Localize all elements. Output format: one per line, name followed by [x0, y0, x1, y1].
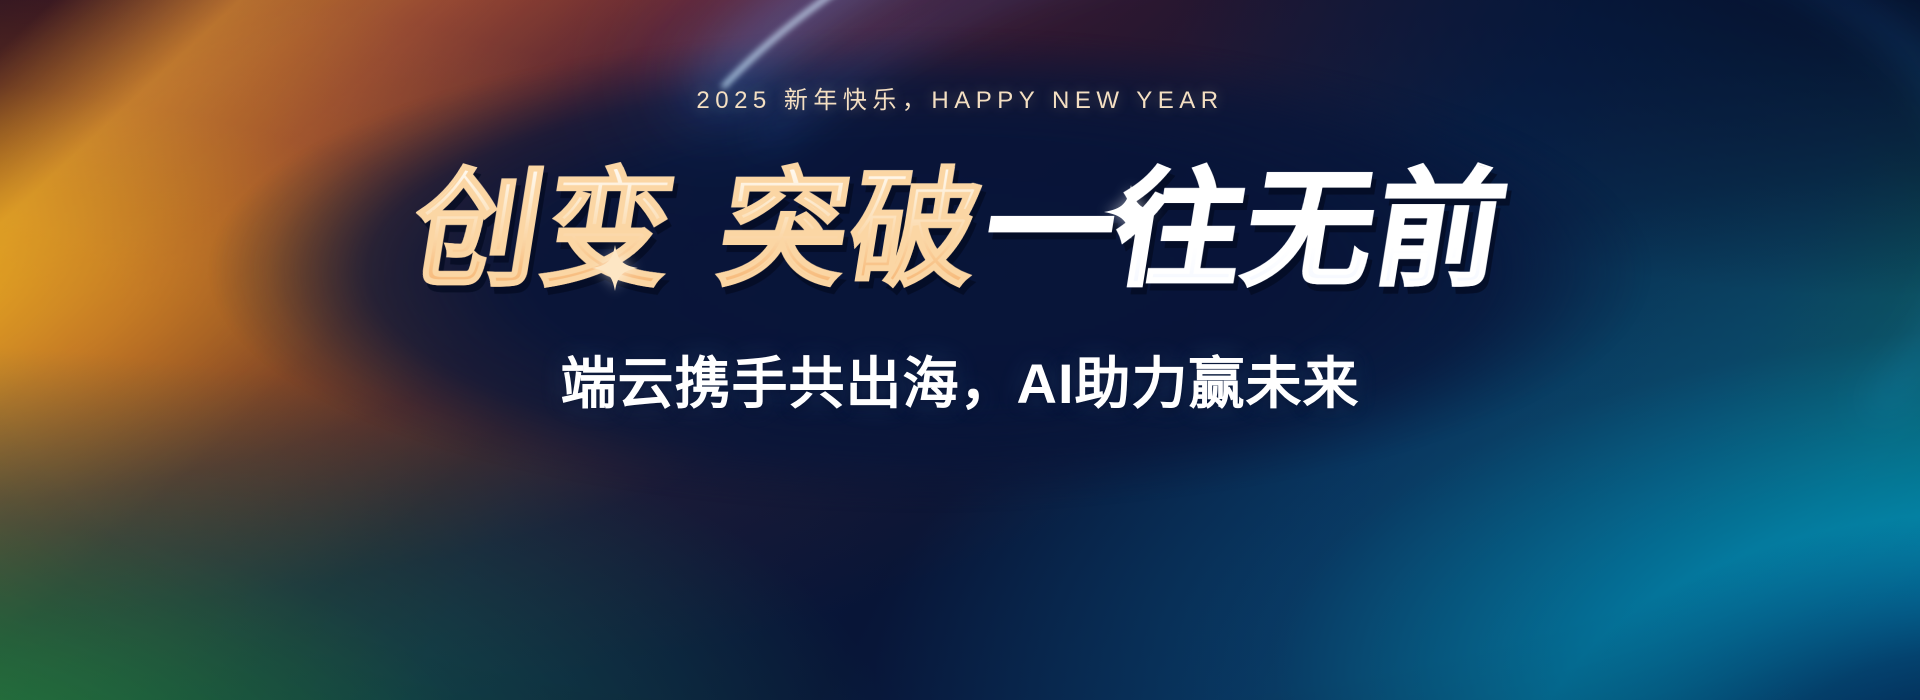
banner-content: 2025 新年快乐，HAPPY NEW YEAR 创变 突破 一往无前 端云携手… [0, 0, 1920, 700]
headline-segment-white: 一往无前 [976, 167, 1516, 295]
headline: 创变 突破 一往无前 [414, 167, 1507, 295]
eyebrow-text: 2025 新年快乐，HAPPY NEW YEAR [696, 80, 1223, 115]
new-year-campaign-banner: 2025 新年快乐，HAPPY NEW YEAR 创变 突破 一往无前 端云携手… [0, 0, 1920, 700]
headline-segment-gold: 创变 突破 [404, 167, 991, 295]
subtitle-text: 端云携手共出海，AI助力赢未来 [561, 339, 1360, 420]
